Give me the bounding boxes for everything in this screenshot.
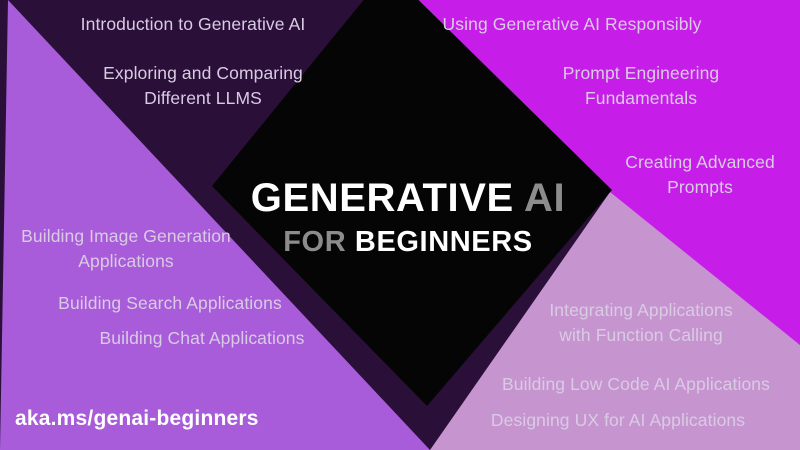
topic-using-generative-ai-responsibly: Using Generative AI Responsibly <box>443 12 702 37</box>
topic-integrating-applications-with-function-calling: Integrating Applications with Function C… <box>549 298 732 348</box>
poster-canvas: Introduction to Generative AI Exploring … <box>0 0 800 450</box>
title-line-primary: GENERATIVE AI <box>251 175 566 221</box>
page-title: GENERATIVE AI FOR BEGINNERS <box>251 175 566 263</box>
topic-prompt-engineering-fundamentals: Prompt Engineering Fundamentals <box>563 61 719 111</box>
topic-exploring-and-comparing-different-llms: Exploring and Comparing Different LLMS <box>103 61 303 111</box>
title-word-beginners: BEGINNERS <box>355 226 533 258</box>
topic-building-low-code-ai-applications: Building Low Code AI Applications <box>502 372 770 397</box>
course-url[interactable]: aka.ms/genai-beginners <box>15 407 259 431</box>
topic-building-search-applications: Building Search Applications <box>58 291 282 316</box>
topic-building-chat-applications: Building Chat Applications <box>100 326 305 351</box>
title-word-generative: GENERATIVE <box>251 176 524 220</box>
topic-designing-ux-for-ai-applications: Designing UX for AI Applications <box>491 408 745 433</box>
topic-introduction-to-generative-ai: Introduction to Generative AI <box>81 12 306 37</box>
title-word-ai: AI <box>524 176 565 220</box>
topic-creating-advanced-prompts: Creating Advanced Prompts <box>625 150 775 200</box>
title-line-secondary: FOR BEGINNERS <box>251 221 566 263</box>
topic-building-image-generation-applications: Building Image Generation Applications <box>21 224 231 274</box>
title-word-for: FOR <box>283 226 355 258</box>
